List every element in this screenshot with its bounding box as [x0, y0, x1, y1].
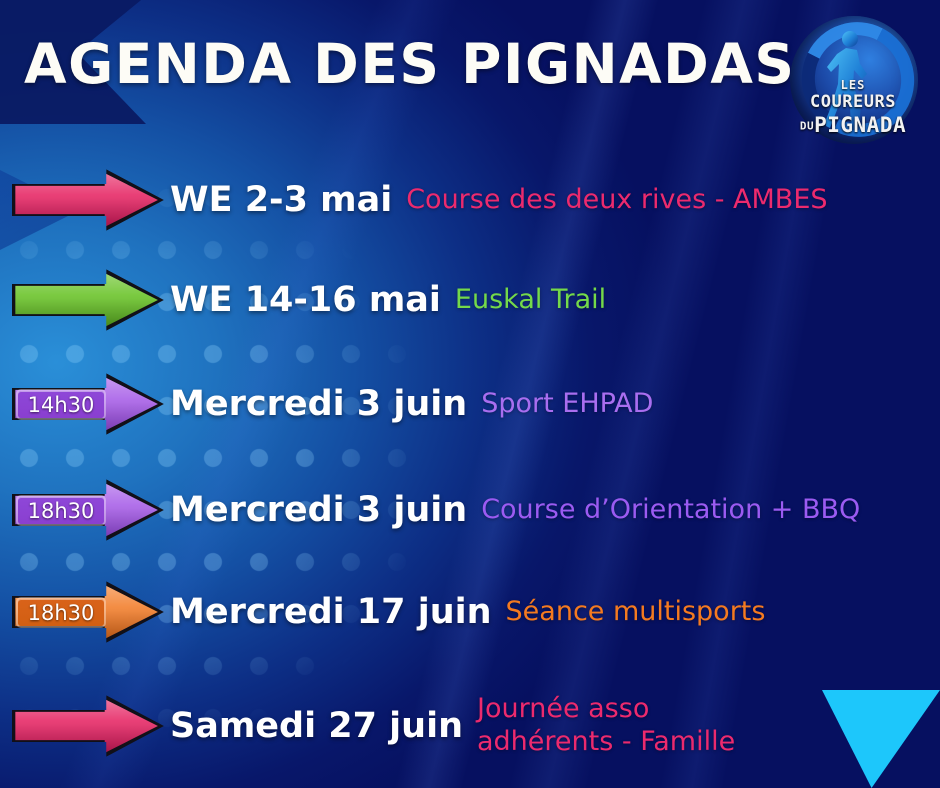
- event-date: Mercredi 3 juin: [170, 490, 467, 530]
- event-description: Course des deux rives - AMBES: [406, 184, 827, 217]
- arrow-marker: 14h30: [12, 372, 164, 436]
- event-row: 14h30Mercredi 3 juinSport EHPAD: [0, 372, 940, 436]
- page-title: AGENDA DES PIGNADAS: [24, 32, 796, 96]
- poster-canvas: AGENDA DES PIGNADAS LES COUREURS DUPIGNA…: [0, 0, 940, 788]
- arrow-highlight: [12, 168, 164, 232]
- event-description: Séance multisports: [506, 596, 766, 629]
- arrow-marker: 18h30: [12, 580, 164, 644]
- club-logo: LES COUREURS DUPIGNADA: [776, 12, 926, 152]
- event-description: Euskal Trail: [455, 284, 606, 317]
- event-description: Sport EHPAD: [481, 388, 653, 421]
- event-date: WE 2-3 mai: [170, 180, 392, 220]
- event-row: 18h30Mercredi 17 juinSéance multisports: [0, 580, 940, 644]
- logo-line-3: DUPIGNADA: [782, 113, 924, 137]
- event-date: Mercredi 17 juin: [170, 592, 492, 632]
- logo-du-label: DU: [800, 120, 814, 133]
- event-date: Mercredi 3 juin: [170, 384, 467, 424]
- arrow-marker: 18h30: [12, 478, 164, 542]
- right-arrow-icon: [12, 268, 164, 332]
- arrow-marker: [12, 168, 164, 232]
- arrow-marker: [12, 694, 164, 758]
- time-badge: 18h30: [18, 497, 104, 524]
- arrow-marker: [12, 268, 164, 332]
- arrow-highlight: [12, 268, 164, 332]
- event-date: Samedi 27 juin: [170, 706, 463, 746]
- right-arrow-icon: [12, 168, 164, 232]
- event-description: Course d’Orientation + BBQ: [481, 494, 860, 527]
- time-badge: 14h30: [18, 391, 104, 418]
- logo-pignada-label: PIGNADA: [814, 113, 906, 137]
- time-badge: 18h30: [18, 599, 104, 626]
- event-description: Journée asso adhérents - Famille: [477, 693, 807, 759]
- arrow-highlight: [12, 694, 164, 758]
- event-row: WE 2-3 maiCourse des deux rives - AMBES: [0, 168, 940, 232]
- right-arrow-icon: [12, 694, 164, 758]
- event-row: 18h30Mercredi 3 juinCourse d’Orientation…: [0, 478, 940, 542]
- event-date: WE 14-16 mai: [170, 280, 441, 320]
- event-row: WE 14-16 maiEuskal Trail: [0, 268, 940, 332]
- logo-line-2: COUREURS: [782, 92, 924, 112]
- event-row: Samedi 27 juinJournée asso adhérents - F…: [0, 678, 940, 774]
- logo-line-1: LES: [782, 78, 924, 92]
